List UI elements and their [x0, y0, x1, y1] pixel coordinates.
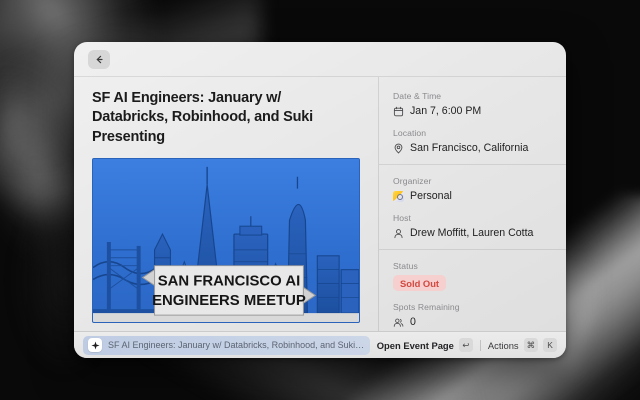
footer-selected-item[interactable]: SF AI Engineers: January w/ Databricks, … [83, 336, 370, 355]
back-button[interactable] [88, 50, 110, 69]
field-label-host: Host [393, 213, 552, 223]
field-row-host: Drew Moffitt, Lauren Cotta [393, 227, 552, 239]
field-value-organizer: Personal [410, 190, 452, 202]
metadata-group-availability: Status Sold Out Spots Remaining 0 [379, 261, 566, 328]
event-image-banner-line2: ENGINEERS MEETUP [152, 293, 306, 309]
event-title: SF AI Engineers: January w/ Databricks, … [92, 89, 360, 147]
status-badge: Sold Out [393, 275, 446, 291]
field-label-date-time: Date & Time [393, 91, 552, 101]
panel-header [74, 42, 566, 76]
calendar-icon [393, 106, 404, 117]
event-detail-panel: SF AI Engineers: January w/ Databricks, … [74, 42, 566, 358]
panel-body: SF AI Engineers: January w/ Databricks, … [74, 77, 566, 331]
field-row-date-time: Jan 7, 6:00 PM [393, 105, 552, 117]
footer-divider [480, 340, 481, 351]
actions-label: Actions [488, 340, 519, 351]
map-pin-icon [393, 143, 404, 154]
field-value-spots-remaining: 0 [410, 316, 416, 328]
field-row-status: Sold Out [393, 275, 552, 291]
field-value-host: Drew Moffitt, Lauren Cotta [410, 227, 533, 239]
field-label-status: Status [393, 261, 552, 271]
command-key-badge[interactable]: ⌘ [524, 338, 538, 352]
field-label-location: Location [393, 128, 552, 138]
event-metadata-sidebar: Date & Time Jan 7, 6:00 PM Location [378, 77, 566, 331]
field-row-location: San Francisco, California [393, 142, 552, 154]
footer-selected-item-label: SF AI Engineers: January w/ Databricks, … [108, 340, 365, 350]
open-event-page-label: Open Event Page [377, 340, 454, 351]
people-group-icon [393, 317, 404, 328]
event-image-banner-line1: SAN FRANCISCO AI [158, 273, 300, 289]
metadata-group-people: Organizer Personal Host Drew Moffitt, La… [379, 176, 566, 239]
open-event-page-action[interactable]: Open Event Page ↩ [377, 338, 473, 352]
field-row-spots-remaining: 0 [393, 316, 552, 328]
return-key-badge[interactable]: ↩ [459, 338, 473, 352]
panel-footer: SF AI Engineers: January w/ Databricks, … [74, 331, 566, 358]
field-value-date-time: Jan 7, 6:00 PM [410, 105, 481, 117]
field-row-organizer: Personal [393, 190, 552, 202]
event-cover-image: SAN FRANCISCO AI ENGINEERS MEETUP [92, 158, 360, 323]
event-main-content: SF AI Engineers: January w/ Databricks, … [74, 77, 378, 331]
k-key-badge[interactable]: K [543, 338, 557, 352]
person-icon [393, 228, 404, 239]
metadata-group-schedule: Date & Time Jan 7, 6:00 PM Location [379, 91, 566, 154]
sidebar-divider-2 [379, 249, 566, 250]
field-label-organizer: Organizer [393, 176, 552, 186]
sparkle-icon [88, 338, 102, 352]
arrow-left-icon [94, 54, 105, 65]
sf-skyline-illustration: SAN FRANCISCO AI ENGINEERS MEETUP [93, 159, 359, 322]
actions-menu-action[interactable]: Actions ⌘ K [488, 338, 557, 352]
sidebar-divider-1 [379, 164, 566, 165]
field-label-spots-remaining: Spots Remaining [393, 302, 552, 312]
calendar-app-icon [393, 191, 404, 202]
field-value-location: San Francisco, California [410, 142, 528, 154]
